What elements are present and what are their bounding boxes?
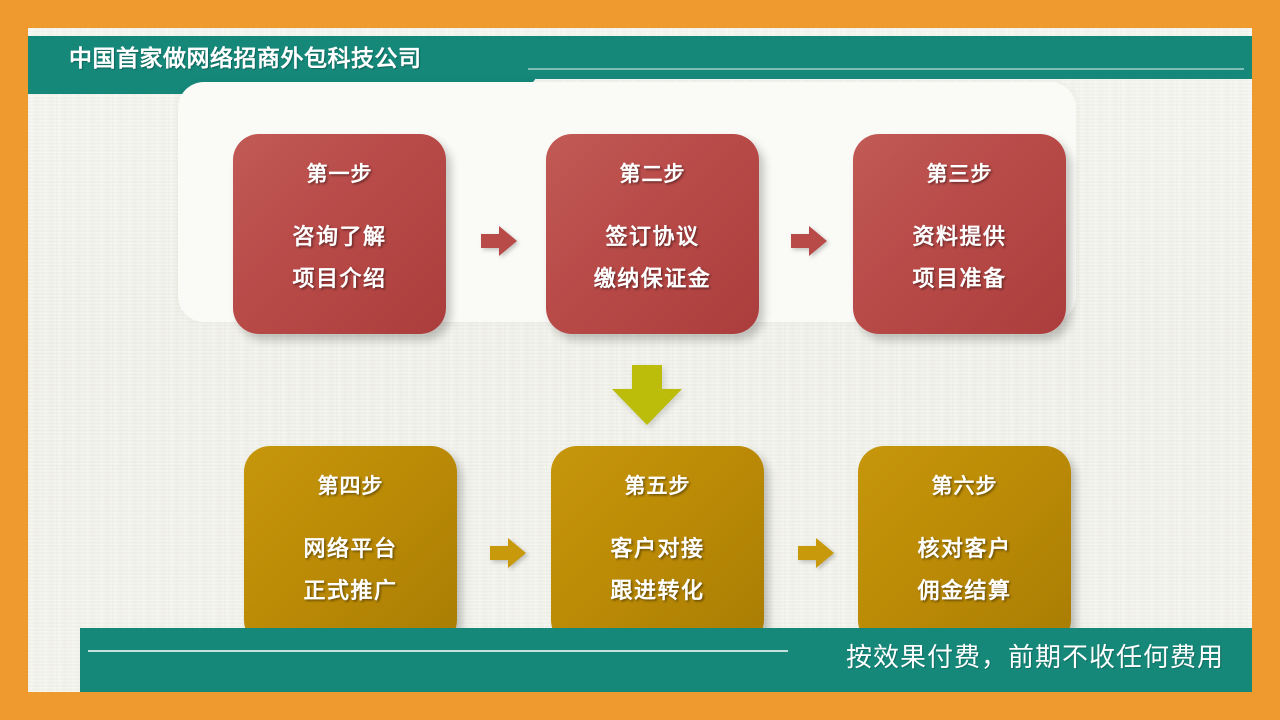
step-card-6-body: 核对客户 佣金结算 (858, 528, 1071, 612)
step-card-2[interactable]: 第二步 签订协议 缴纳保证金 (546, 134, 759, 334)
step-card-3-line-2: 项目准备 (853, 258, 1066, 300)
step-card-4[interactable]: 第四步 网络平台 正式推广 (244, 446, 457, 646)
arrow-right-icon (791, 224, 827, 258)
header-hairline-divider (528, 68, 1244, 70)
slide-content-area: 中国首家做网络招商外包科技公司 第一步 咨询了解 项目介绍 第二步 签订协议 缴… (28, 28, 1252, 692)
step-card-6-line-1: 核对客户 (858, 528, 1071, 570)
step-card-4-line-1: 网络平台 (244, 528, 457, 570)
step-card-2-body: 签订协议 缴纳保证金 (546, 216, 759, 300)
arrow-right-icon (798, 536, 834, 570)
step-card-5-line-1: 客户对接 (551, 528, 764, 570)
slide-canvas: 中国首家做网络招商外包科技公司 第一步 咨询了解 项目介绍 第二步 签订协议 缴… (0, 0, 1280, 720)
step-card-4-title: 第四步 (244, 470, 457, 500)
step-card-3-title: 第三步 (853, 158, 1066, 188)
step-card-4-line-2: 正式推广 (244, 570, 457, 612)
step-card-3[interactable]: 第三步 资料提供 项目准备 (853, 134, 1066, 334)
step-card-1-line-1: 咨询了解 (233, 216, 446, 258)
step-card-5-body: 客户对接 跟进转化 (551, 528, 764, 612)
step-card-2-line-1: 签订协议 (546, 216, 759, 258)
footer-band: 按效果付费，前期不收任何费用 (28, 628, 1252, 692)
footer-hairline-divider (88, 650, 788, 652)
page-title: 中国首家做网络招商外包科技公司 (69, 42, 422, 74)
arrow-right-icon (490, 536, 526, 570)
step-card-2-line-2: 缴纳保证金 (546, 258, 759, 300)
step-card-6-line-2: 佣金结算 (858, 570, 1071, 612)
step-card-1[interactable]: 第一步 咨询了解 项目介绍 (233, 134, 446, 334)
step-card-2-title: 第二步 (546, 158, 759, 188)
arrow-down-icon (608, 365, 686, 425)
step-card-5-line-2: 跟进转化 (551, 570, 764, 612)
step-card-6-title: 第六步 (858, 470, 1071, 500)
step-card-1-line-2: 项目介绍 (233, 258, 446, 300)
step-card-5-title: 第五步 (551, 470, 764, 500)
step-card-3-line-1: 资料提供 (853, 216, 1066, 258)
step-card-3-body: 资料提供 项目准备 (853, 216, 1066, 300)
footer-tagline: 按效果付费，前期不收任何费用 (846, 637, 1224, 674)
step-card-1-body: 咨询了解 项目介绍 (233, 216, 446, 300)
step-card-1-title: 第一步 (233, 158, 446, 188)
step-card-4-body: 网络平台 正式推广 (244, 528, 457, 612)
arrow-right-icon (481, 224, 517, 258)
step-card-5[interactable]: 第五步 客户对接 跟进转化 (551, 446, 764, 646)
step-card-6[interactable]: 第六步 核对客户 佣金结算 (858, 446, 1071, 646)
